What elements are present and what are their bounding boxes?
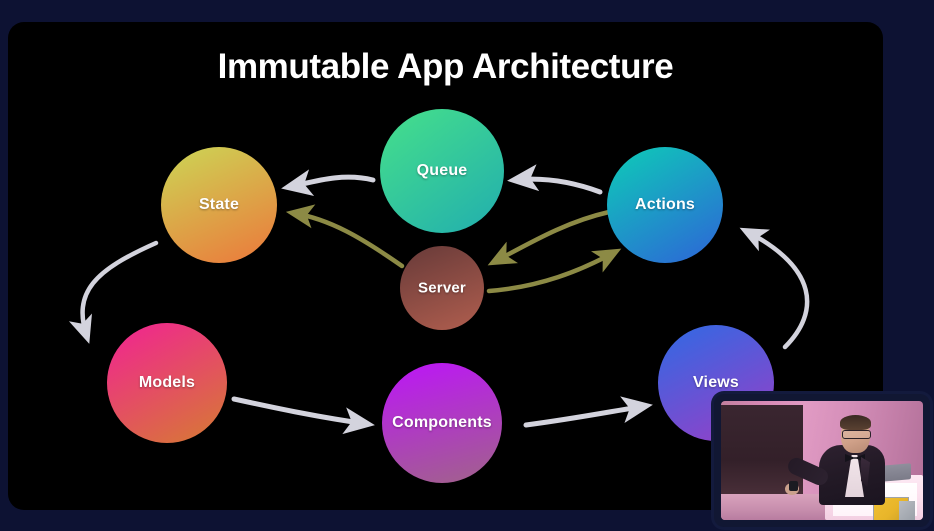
glasses-icon	[842, 430, 871, 439]
node-label-state: State	[199, 196, 239, 214]
speaker-video-overlay[interactable]	[714, 394, 930, 527]
speaker-hair	[840, 415, 871, 430]
clicker-device	[789, 481, 798, 491]
presentation-stage: Immutable App Architecture	[0, 0, 934, 531]
node-label-server: Server	[418, 280, 466, 297]
node-label-components: Components	[392, 414, 492, 432]
cube-graphic-side	[899, 501, 915, 520]
node-label-actions: Actions	[635, 196, 695, 214]
node-label-models: Models	[139, 374, 195, 392]
node-label-queue: Queue	[417, 162, 468, 180]
speaker-video-frame	[721, 401, 923, 520]
node-label-views: Views	[693, 374, 739, 392]
page-title: Immutable App Architecture	[8, 47, 883, 87]
